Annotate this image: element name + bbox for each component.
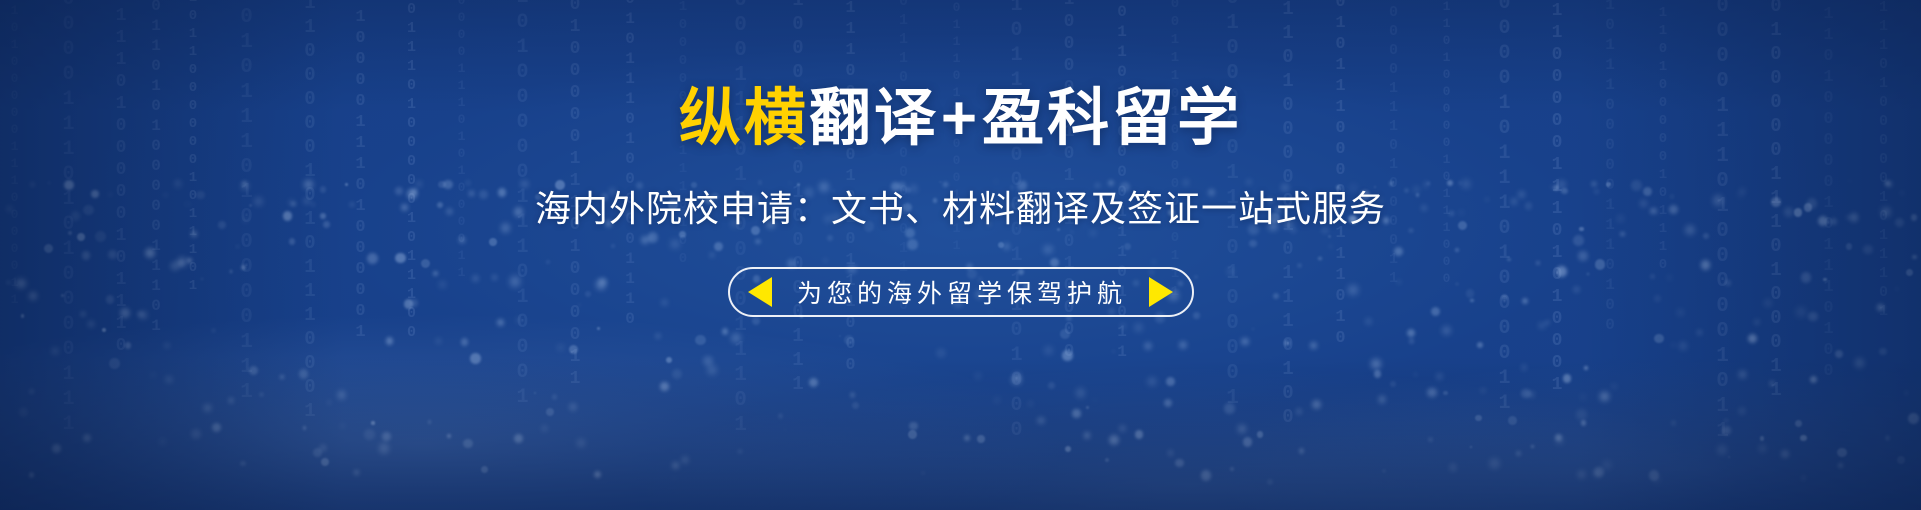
promo-banner: 1101000001110000011000001110101000011100… [0,0,1921,510]
headline-plus-symbol: + [939,84,982,153]
cta-pill-button[interactable]: 为您的海外留学保驾护航 [728,267,1194,317]
headline-partner-white: 盈科留学 [982,84,1242,153]
headline-brand-white: 翻译 [809,84,939,153]
banner-subheadline: 海内外院校申请：文书、材料翻译及签证一站式服务 [535,180,1386,232]
headline-brand-accent: 纵横 [679,84,809,153]
triangle-left-icon [748,277,772,307]
cta-label: 为您的海外留学保驾护航 [794,274,1127,310]
banner-headline: 纵横翻译+盈科留学 [679,88,1242,150]
banner-content: 纵横翻译+盈科留学 海内外院校申请：文书、材料翻译及签证一站式服务 为您的海外留… [0,0,1921,510]
triangle-right-icon [1149,277,1173,307]
